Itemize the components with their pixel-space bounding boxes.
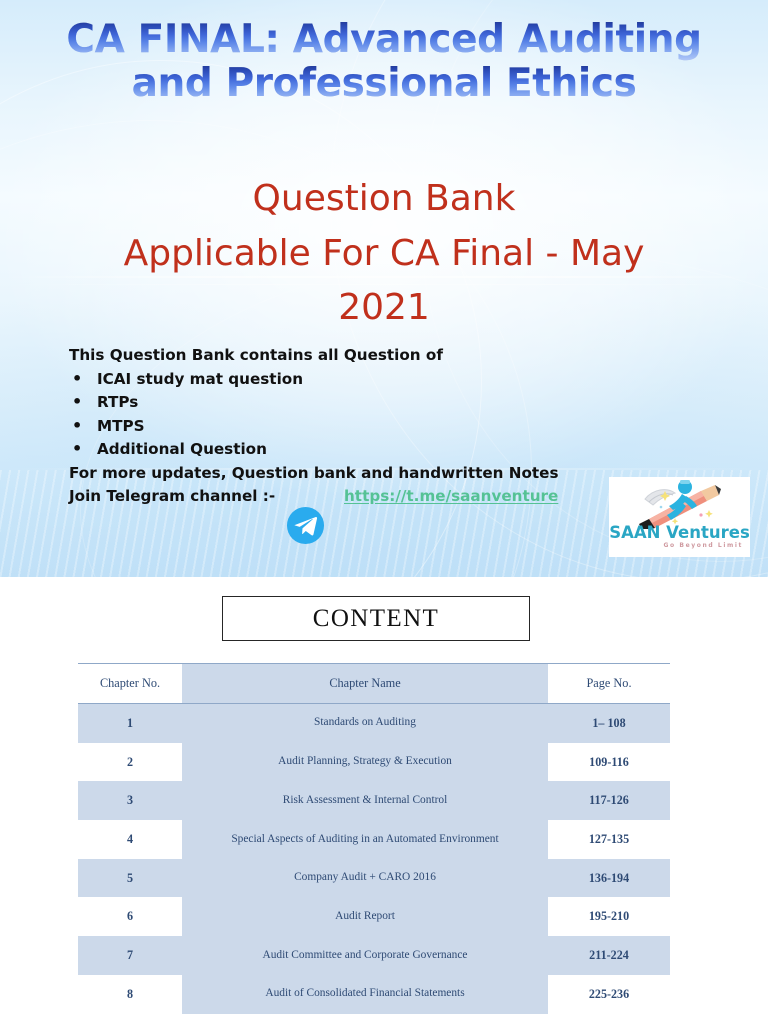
updates-line: For more updates, Question bank and hand…: [69, 462, 669, 486]
join-telegram-label: Join Telegram channel :-: [69, 487, 275, 505]
table-row[interactable]: 1 Standards on Auditing 1– 108: [78, 704, 670, 743]
bullet-item: Additional Question: [69, 438, 669, 462]
cell-page-no: 136-194: [548, 859, 670, 898]
content-title: CONTENT: [313, 605, 439, 633]
content-title-box: CONTENT: [222, 596, 530, 641]
cell-page-no: 195-210: [548, 897, 670, 936]
cell-chapter-no: 7: [78, 936, 182, 975]
cell-chapter-no: 6: [78, 897, 182, 936]
table-row[interactable]: 7 Audit Committee and Corporate Governan…: [78, 936, 670, 975]
cover-slide: CA FINAL: Advanced Auditing and Professi…: [0, 0, 768, 577]
cell-page-no: 225-236: [548, 975, 670, 1014]
column-header-chapter-no: Chapter No.: [78, 664, 182, 704]
cell-chapter-name: Audit Planning, Strategy & Execution: [182, 743, 548, 782]
logo-tagline: Go Beyond Limit: [609, 542, 750, 549]
cell-page-no: 1– 108: [548, 704, 670, 743]
subtitle-line-2: Applicable For CA Final - May: [34, 227, 734, 282]
intro-line: This Question Bank contains all Question…: [69, 344, 669, 368]
content-section: CONTENT Chapter No. Chapter Name Page No…: [0, 577, 768, 1024]
cover-body-text: This Question Bank contains all Question…: [69, 344, 669, 509]
telegram-channel-link[interactable]: https://t.me/saanventure: [344, 485, 558, 509]
bullet-item: ICAI study mat question: [69, 368, 669, 392]
column-header-chapter-name: Chapter Name: [182, 664, 548, 704]
cell-chapter-name: Standards on Auditing: [182, 704, 548, 743]
cell-chapter-no: 3: [78, 781, 182, 820]
winged-pencil-logo-icon: [609, 477, 750, 529]
contents-table: Chapter No. Chapter Name Page No. 1 Stan…: [78, 663, 670, 1014]
subtitle-line-3: 2021: [34, 281, 734, 336]
contents-bullet-list: ICAI study mat question RTPs MTPS Additi…: [69, 368, 669, 462]
page-title: CA FINAL: Advanced Auditing and Professi…: [0, 18, 768, 105]
cell-page-no: 109-116: [548, 743, 670, 782]
cell-chapter-name: Audit Report: [182, 897, 548, 936]
table-row[interactable]: 2 Audit Planning, Strategy & Execution 1…: [78, 743, 670, 782]
telegram-icon[interactable]: [286, 506, 325, 545]
table-row[interactable]: 5 Company Audit + CARO 2016 136-194: [78, 859, 670, 898]
cell-chapter-no: 4: [78, 820, 182, 859]
table-row[interactable]: 6 Audit Report 195-210: [78, 897, 670, 936]
cell-chapter-name: Audit Committee and Corporate Governance: [182, 936, 548, 975]
cell-page-no: 127-135: [548, 820, 670, 859]
cell-chapter-name: Audit of Consolidated Financial Statemen…: [182, 975, 548, 1014]
subtitle-line-1: Question Bank: [34, 172, 734, 227]
cell-chapter-name: Special Aspects of Auditing in an Automa…: [182, 820, 548, 859]
column-header-page-no: Page No.: [548, 664, 670, 704]
cell-chapter-name: Risk Assessment & Internal Control: [182, 781, 548, 820]
logo-name: SAAN Ventures: [609, 523, 750, 542]
subtitle-heading: Question Bank Applicable For CA Final - …: [34, 172, 734, 336]
saan-ventures-logo: SAAN Ventures Go Beyond Limit: [609, 477, 750, 557]
table-row[interactable]: 4 Special Aspects of Auditing in an Auto…: [78, 820, 670, 859]
cell-page-no: 117-126: [548, 781, 670, 820]
title-line-2: and Professional Ethics: [0, 62, 768, 106]
title-line-1: CA FINAL: Advanced Auditing: [0, 18, 768, 62]
cell-page-no: 211-224: [548, 936, 670, 975]
table-row[interactable]: 3 Risk Assessment & Internal Control 117…: [78, 781, 670, 820]
bullet-item: MTPS: [69, 415, 669, 439]
bullet-item: RTPs: [69, 391, 669, 415]
cell-chapter-no: 2: [78, 743, 182, 782]
join-telegram-line: Join Telegram channel :- https://t.me/sa…: [69, 485, 669, 509]
table-row[interactable]: 8 Audit of Consolidated Financial Statem…: [78, 975, 670, 1014]
cell-chapter-no: 1: [78, 704, 182, 743]
cell-chapter-name: Company Audit + CARO 2016: [182, 859, 548, 898]
table-header-row: Chapter No. Chapter Name Page No.: [78, 664, 670, 704]
cell-chapter-no: 8: [78, 975, 182, 1014]
cell-chapter-no: 5: [78, 859, 182, 898]
